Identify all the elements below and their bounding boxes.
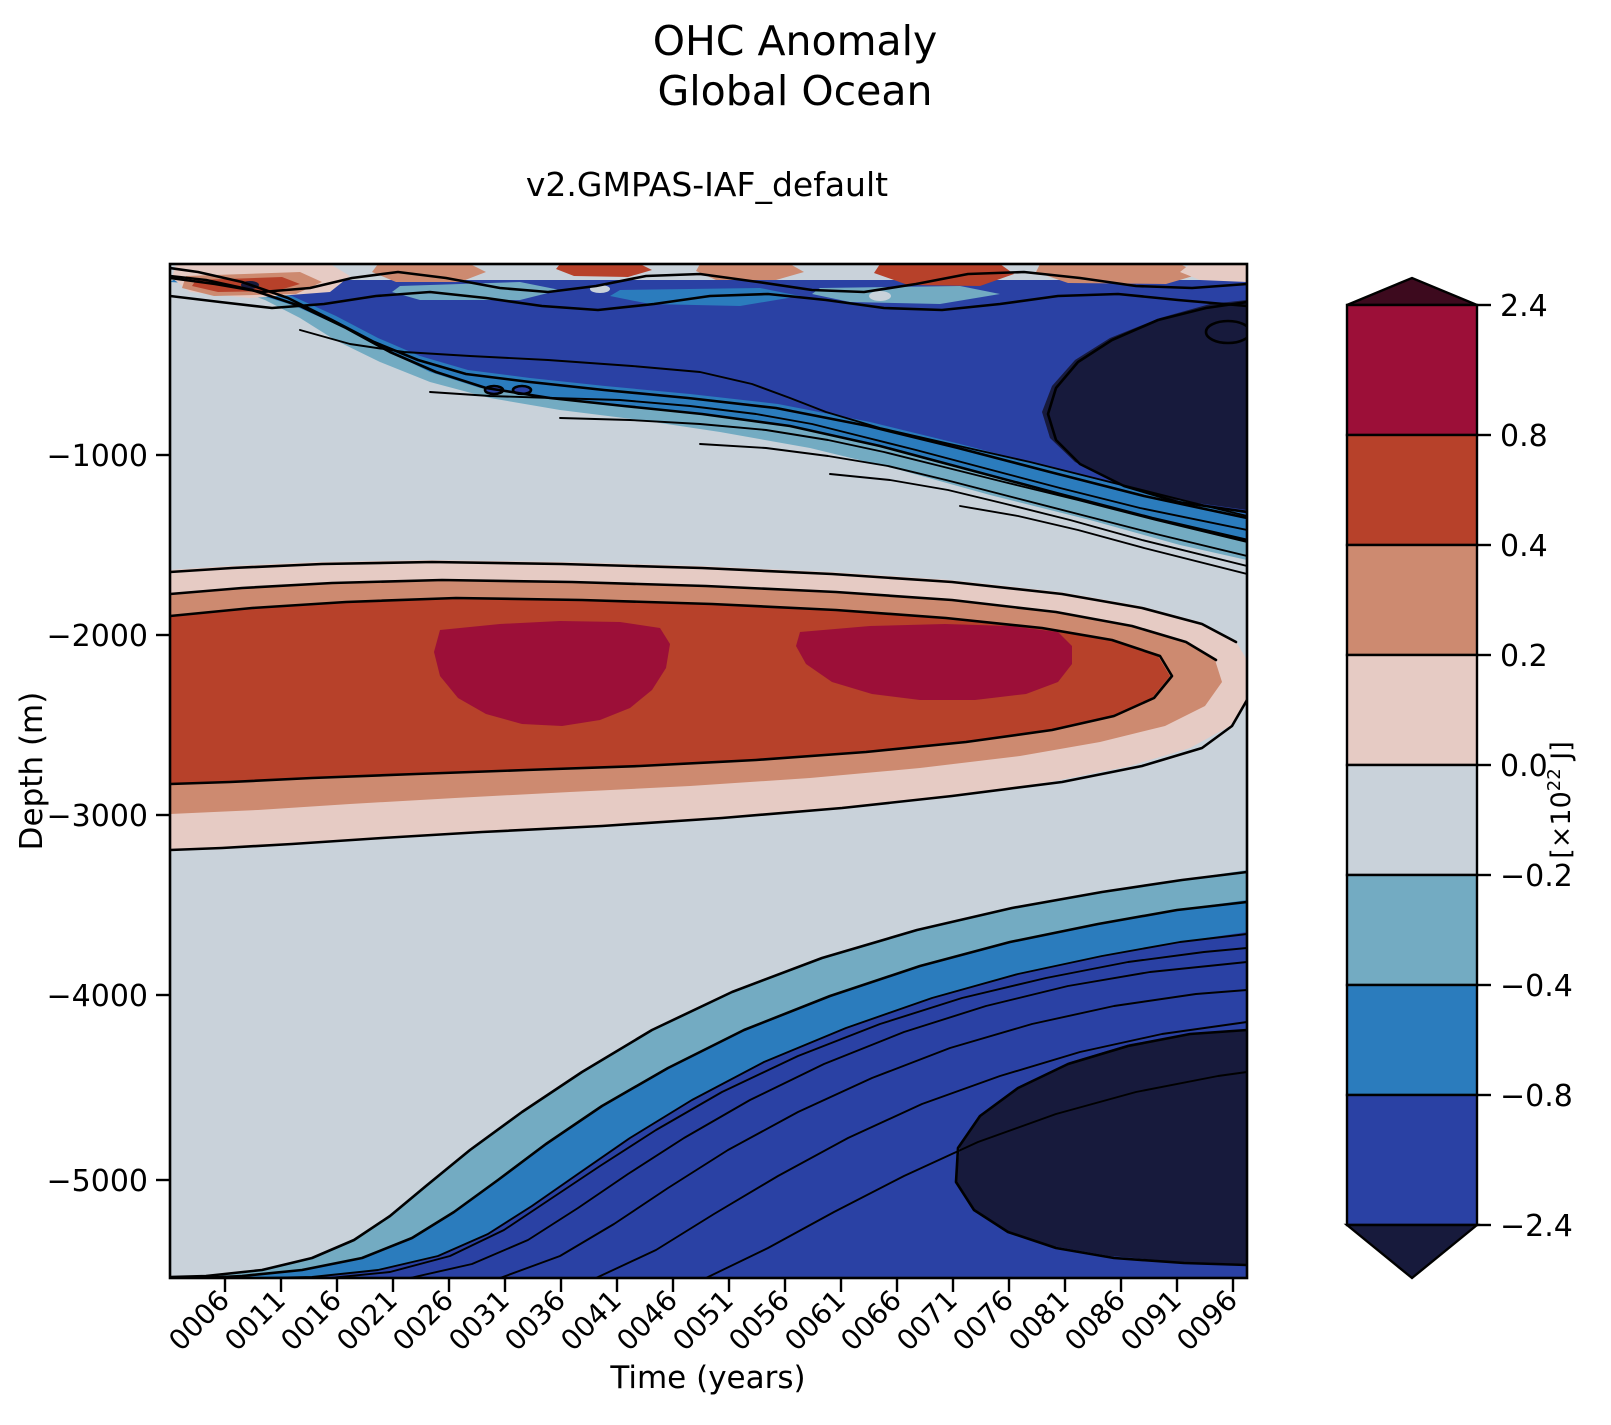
x-axis-title: Time (years): [609, 1360, 805, 1396]
colorbar-tick-label: 2.4: [1500, 289, 1548, 324]
y-axis-title: Depth (m): [14, 692, 50, 851]
colorbar-tick-label: 0.0: [1500, 749, 1548, 784]
y-tick-label: −2000: [47, 619, 148, 654]
colorbar-unit-label: [×1022 J]: [1544, 741, 1578, 859]
colorbar-unit-exponent: 22: [1544, 768, 1565, 791]
colorbar-band-0.4-0.8: [1347, 435, 1477, 545]
colorbar-band-n2.4-n0.8: [1347, 1095, 1477, 1225]
colorbar-tick-label: 0.2: [1500, 639, 1548, 674]
colorbar-band-0.0-0.2: [1347, 655, 1477, 765]
colorbar-band-0.8-2.4: [1347, 305, 1477, 435]
colorbar-band-n0.2-0.0: [1347, 765, 1477, 875]
colorbar-tick-label: −0.8: [1500, 1079, 1573, 1114]
colorbar-tick-label: −0.4: [1500, 969, 1573, 1004]
colorbar-tick-label: −2.4: [1500, 1209, 1573, 1244]
surface-speck-3: [869, 291, 891, 301]
y-tick-label: −5000: [47, 1164, 148, 1199]
colorbar-band-n0.4-n0.2: [1347, 875, 1477, 985]
svg-text:[×1022 J]: [×1022 J]: [1544, 741, 1578, 859]
ohc-anomaly-figure: OHC Anomaly Global Ocean v2.GMPAS-IAF_de…: [0, 0, 1611, 1425]
colorbar-tick-label: −0.2: [1500, 859, 1573, 894]
figure-title-line-2: Global Ocean: [658, 67, 933, 115]
y-tick-label: −4000: [47, 979, 148, 1014]
colorbar-unit-suffix: J]: [1546, 741, 1577, 768]
colorbar-tick-label: 0.4: [1500, 529, 1548, 564]
contour-plot-area: [170, 264, 1250, 1278]
colorbar-band-n0.8-n0.4: [1347, 985, 1477, 1095]
y-tick-label: −3000: [47, 799, 148, 834]
figure-title-line-1: OHC Anomaly: [653, 17, 938, 65]
figure-subtitle: v2.GMPAS-IAF_default: [526, 165, 888, 204]
colorbar-unit-prefix: [×10: [1546, 791, 1577, 859]
colorbar-band-0.2-0.4: [1347, 545, 1477, 655]
y-tick-label: −1000: [47, 439, 148, 474]
colorbar-tick-label: 0.8: [1500, 419, 1548, 454]
